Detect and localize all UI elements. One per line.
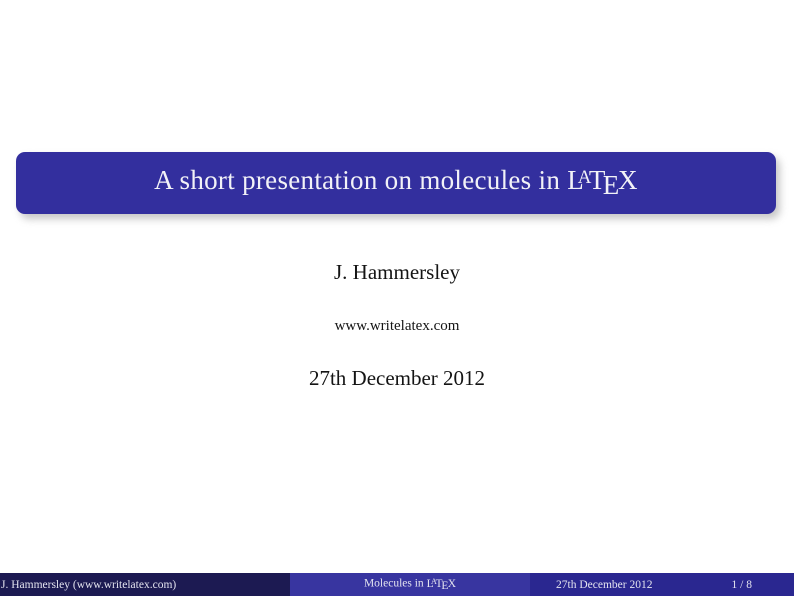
- presentation-date: 27th December 2012: [0, 366, 794, 391]
- footer-bar: J. Hammersley (www.writelatex.com) Molec…: [0, 573, 794, 596]
- footer-author-segment: J. Hammersley (www.writelatex.com): [0, 573, 290, 596]
- footer-page-number: 1 / 8: [732, 579, 752, 591]
- title-text-prefix: A short presentation on molecules in: [154, 165, 567, 195]
- footer-title-text: Molecules in LATEX: [364, 577, 456, 592]
- footer-author-text: J. Hammersley (www.writelatex.com): [1, 579, 176, 591]
- slide-canvas: A short presentation on molecules in LAT…: [0, 0, 794, 596]
- latex-logo: LATEX: [567, 165, 638, 195]
- footer-date-text: 27th December 2012: [556, 579, 652, 591]
- footer-title-segment: Molecules in LATEX: [290, 573, 530, 596]
- latex-logo-e: E: [603, 170, 620, 200]
- page-title: A short presentation on molecules in LAT…: [154, 167, 638, 200]
- title-block: A short presentation on molecules in LAT…: [16, 152, 776, 214]
- latex-logo-x: X: [618, 165, 638, 195]
- author-name: J. Hammersley: [0, 260, 794, 285]
- footer-latex-logo: LATEX: [427, 578, 456, 590]
- title-box: A short presentation on molecules in LAT…: [16, 152, 776, 214]
- footer-title-prefix: Molecules in: [364, 578, 427, 590]
- footer-latex-logo-x: X: [448, 578, 456, 590]
- footer-date-page-segment: 27th December 2012 1 / 8: [530, 573, 794, 596]
- institute-url: www.writelatex.com: [0, 318, 794, 335]
